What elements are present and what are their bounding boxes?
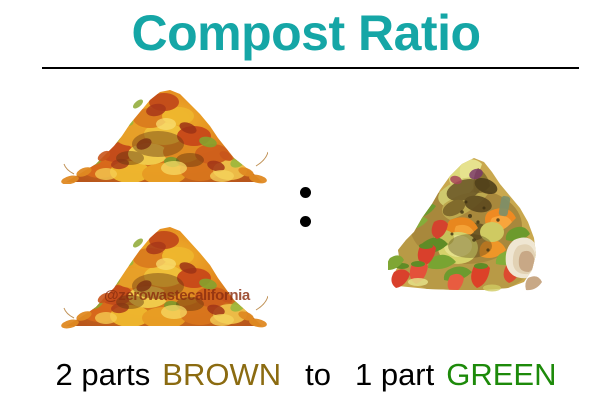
brown-material-leaf-pile-1 <box>60 84 268 184</box>
caption-green-word: GREEN <box>446 357 556 392</box>
ratio-caption: 2 partsBROWNto1 partGREEN <box>0 356 612 394</box>
caption-parts-green-count: 1 part <box>355 357 434 392</box>
page-title: Compost Ratio <box>0 4 612 62</box>
colon-dot-bottom <box>300 216 311 227</box>
caption-brown-word: BROWN <box>162 357 281 392</box>
colon-dot-top <box>300 187 311 198</box>
green-material-food-scrap-pile <box>388 146 544 292</box>
compost-ratio-slide: Compost Ratio <box>0 0 612 408</box>
caption-to-word: to <box>305 357 331 392</box>
brown-material-leaf-pile-2 <box>60 218 268 330</box>
title-divider-rule <box>42 67 579 69</box>
ratio-colon-separator <box>300 185 312 230</box>
caption-parts-brown-count: 2 parts <box>56 357 151 392</box>
